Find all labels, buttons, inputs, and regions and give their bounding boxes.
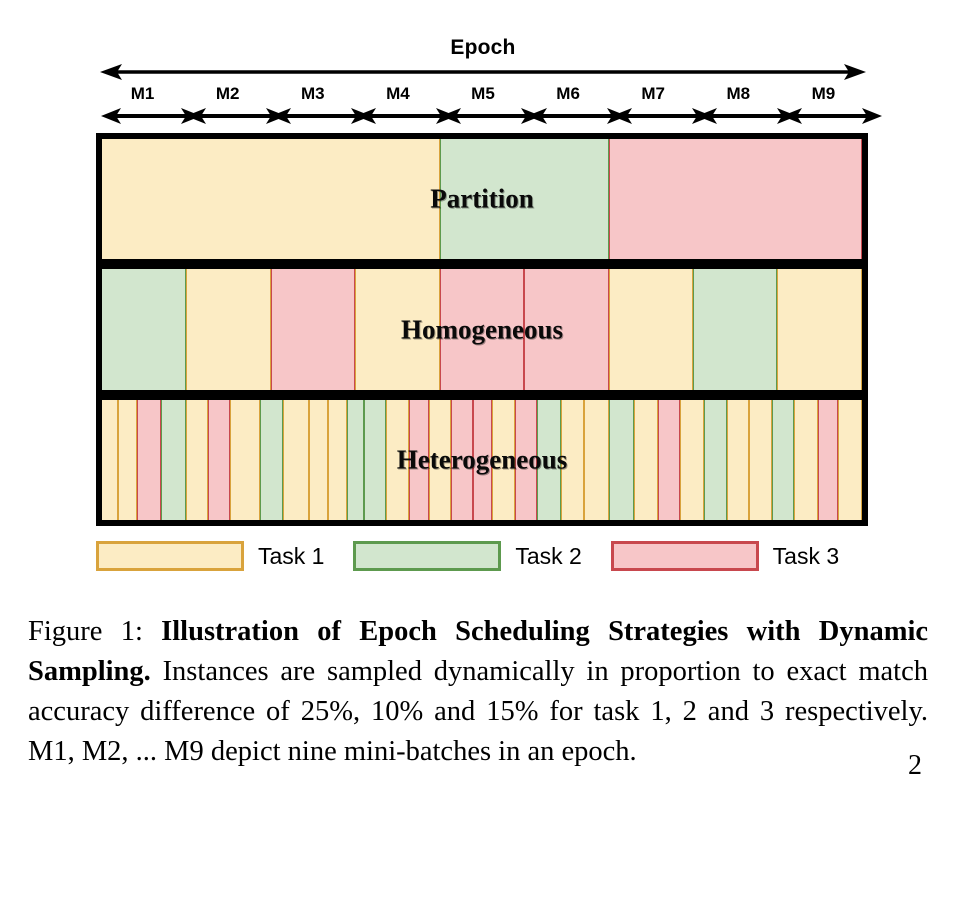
legend-label-task1: Task 1 <box>258 543 324 570</box>
minibatch-label-m7: M7 <box>611 84 696 104</box>
minibatch-label-m1: M1 <box>100 84 185 104</box>
minibatch-label-m9: M9 <box>781 84 866 104</box>
minibatch-label-m5: M5 <box>440 84 525 104</box>
segment-task3 <box>515 400 537 520</box>
minibatch-cell-m8: M8 <box>696 84 781 128</box>
segment-task3 <box>208 400 231 520</box>
strategy-row-homogeneous: Homogeneous <box>96 264 868 395</box>
minibatch-label-m3: M3 <box>270 84 355 104</box>
segment-task1 <box>230 400 259 520</box>
caption-figure-number: Figure 1: <box>28 616 143 647</box>
segment-task1 <box>328 400 347 520</box>
legend-label-task2: Task 2 <box>515 543 581 570</box>
segment-task1 <box>680 400 703 520</box>
legend-item-task3: Task 3 <box>611 541 868 571</box>
legend-item-task2: Task 2 <box>353 541 610 571</box>
segment-task1 <box>609 269 693 390</box>
segment-task2 <box>161 400 186 520</box>
segment-task2 <box>364 400 386 520</box>
segment-task2 <box>693 269 777 390</box>
segment-task2 <box>537 400 561 520</box>
minibatch-band: M1 M2 M3 M4 <box>100 84 866 128</box>
segment-task2 <box>440 139 609 259</box>
minibatch-label-m2: M2 <box>185 84 270 104</box>
segment-task1 <box>102 139 440 259</box>
legend-swatch-task1 <box>96 541 244 571</box>
segment-task1 <box>634 400 657 520</box>
legend-swatch-task2 <box>353 541 501 571</box>
minibatch-label-m6: M6 <box>526 84 611 104</box>
minibatch-cell-m7: M7 <box>611 84 696 128</box>
partition-segments <box>102 139 862 259</box>
minibatch-cell-m3: M3 <box>270 84 355 128</box>
segment-task1 <box>386 400 409 520</box>
heterogeneous-segments <box>102 400 862 520</box>
segment-task1 <box>794 400 817 520</box>
epoch-band: Epoch <box>100 36 866 80</box>
homogeneous-segments <box>102 269 862 390</box>
legend: Task 1 Task 2 Task 3 <box>96 537 868 575</box>
strategy-row-partition: Partition <box>96 133 868 264</box>
figure-caption: Figure 1: Illustration of Epoch Scheduli… <box>28 612 928 772</box>
segment-task3 <box>473 400 491 520</box>
segment-task3 <box>409 400 430 520</box>
minibatch-cell-m9: M9 <box>781 84 866 128</box>
segment-task3 <box>818 400 839 520</box>
segment-task1 <box>283 400 309 520</box>
segment-task1 <box>561 400 584 520</box>
minibatch-cell-m4: M4 <box>355 84 440 128</box>
segment-task1 <box>429 400 451 520</box>
segment-task3 <box>440 269 524 390</box>
minibatch-double-arrow-icon <box>782 108 882 124</box>
minibatch-cell-m6: M6 <box>526 84 611 128</box>
epoch-double-arrow-icon <box>100 64 866 80</box>
legend-label-task3: Task 3 <box>773 543 839 570</box>
page-number: 2 <box>908 746 922 786</box>
segment-task2 <box>260 400 283 520</box>
legend-item-task1: Task 1 <box>96 541 353 571</box>
minibatch-cell-m5: M5 <box>440 84 525 128</box>
strategy-row-heterogeneous: Heterogeneous <box>96 395 868 526</box>
segment-task1 <box>309 400 328 520</box>
segment-task1 <box>727 400 749 520</box>
segment-task3 <box>609 139 862 259</box>
segment-task2 <box>347 400 364 520</box>
segment-task3 <box>137 400 160 520</box>
minibatch-label-m4: M4 <box>355 84 440 104</box>
segment-task1 <box>492 400 515 520</box>
segment-task2 <box>772 400 794 520</box>
segment-task2 <box>704 400 727 520</box>
segment-task1 <box>118 400 137 520</box>
segment-task3 <box>658 400 681 520</box>
legend-swatch-task3 <box>611 541 759 571</box>
epoch-label: Epoch <box>100 36 866 60</box>
segment-task1 <box>777 269 862 390</box>
segment-task2 <box>609 400 634 520</box>
segment-task3 <box>271 269 355 390</box>
segment-task1 <box>102 400 118 520</box>
segment-task2 <box>102 269 186 390</box>
minibatch-cell-m2: M2 <box>185 84 270 128</box>
segment-task1 <box>186 400 208 520</box>
figure-epoch-scheduling: Epoch M1 M2 M3 <box>0 0 959 595</box>
segment-task3 <box>524 269 608 390</box>
strategy-rows: Partition Homogeneous Heterogeneous <box>96 133 868 526</box>
minibatch-cell-m1: M1 <box>100 84 185 128</box>
segment-task1 <box>749 400 772 520</box>
segment-task1 <box>838 400 861 520</box>
minibatch-label-m8: M8 <box>696 84 781 104</box>
segment-task1 <box>584 400 609 520</box>
segment-task1 <box>186 269 270 390</box>
segment-task3 <box>451 400 473 520</box>
caption-body: Instances are sampled dynamically in pro… <box>28 656 928 767</box>
segment-task1 <box>355 269 439 390</box>
